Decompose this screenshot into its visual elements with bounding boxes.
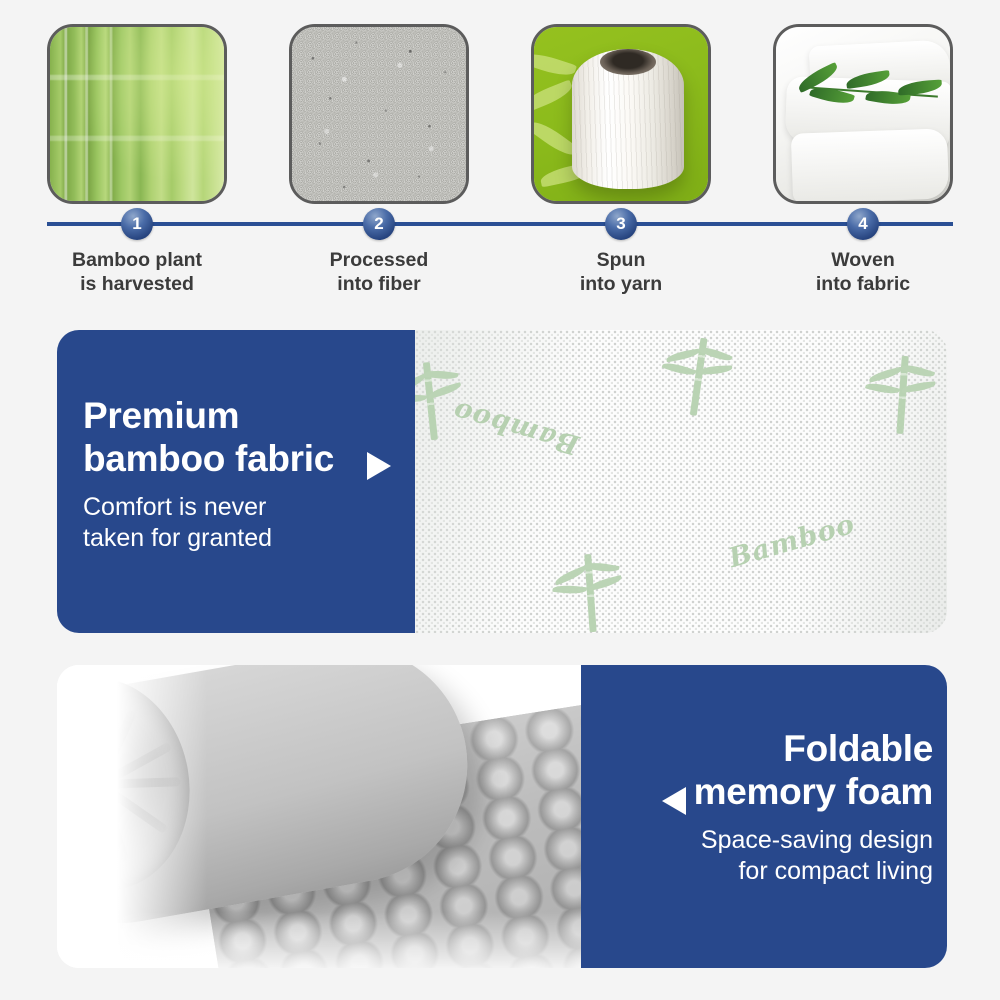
step-number-badge: 4 bbox=[847, 208, 879, 240]
stalk-leaf bbox=[415, 393, 427, 403]
step-caption-line-2: into yarn bbox=[531, 272, 711, 296]
step-caption-line-1: Spun bbox=[531, 248, 711, 272]
feature-foam-title-line-1: Foldable bbox=[597, 727, 933, 770]
process-timeline-line bbox=[47, 222, 953, 226]
bamboo-stalk-motif bbox=[866, 354, 941, 439]
photo-bottom-fade bbox=[57, 912, 581, 968]
feature-foam-subtitle-line-2: for compact living bbox=[597, 856, 933, 887]
stalk-leaf bbox=[553, 565, 588, 585]
feature-fabric-title-line-2: bamboo fabric bbox=[83, 437, 413, 480]
feature-foam-subtitle: Space-saving design for compact living bbox=[597, 825, 933, 887]
bamboo-stalk-motif bbox=[660, 334, 740, 423]
triangle-left-icon bbox=[662, 787, 686, 815]
step-caption-line-1: Woven bbox=[773, 248, 953, 272]
process-step-labels: 1 Bamboo plant is harvested 2 Processed … bbox=[47, 0, 953, 100]
feature-foam-copy: Foldable memory foam Space-saving design… bbox=[597, 727, 933, 887]
stalk-leaf bbox=[865, 380, 900, 396]
step-caption: Spun into yarn bbox=[531, 248, 711, 296]
step-caption-line-2: is harvested bbox=[47, 272, 227, 296]
step-caption: Processed into fiber bbox=[289, 248, 469, 296]
feature-fabric-subtitle-line-1: Comfort is never bbox=[83, 492, 413, 523]
bamboo-fabric-photo: Bamboo Bamboo bbox=[415, 330, 947, 633]
fabric-fold bbox=[791, 128, 949, 203]
step-caption-line-1: Processed bbox=[289, 248, 469, 272]
bamboo-stalk-motif bbox=[554, 552, 629, 633]
feature-foam-title-line-2: memory foam bbox=[597, 770, 933, 813]
stalk-leaf bbox=[666, 349, 701, 363]
step-caption: Woven into fabric bbox=[773, 248, 953, 296]
step-caption: Bamboo plant is harvested bbox=[47, 248, 227, 296]
step-caption-line-1: Bamboo plant bbox=[47, 248, 227, 272]
step-number-badge: 1 bbox=[121, 208, 153, 240]
feature-fabric-title-line-1: Premium bbox=[83, 394, 413, 437]
step-number-badge: 2 bbox=[363, 208, 395, 240]
feature-fabric-subtitle-line-2: taken for granted bbox=[83, 523, 413, 554]
feature-fabric-copy: Premium bamboo fabric Comfort is never t… bbox=[83, 394, 413, 554]
feature-panel-memory-foam: Foldable memory foam Space-saving design… bbox=[57, 665, 947, 968]
bamboo-process-section: 1 Bamboo plant is harvested 2 Processed … bbox=[0, 0, 1000, 312]
step-number-badge: 3 bbox=[605, 208, 637, 240]
stalk-leaf bbox=[552, 584, 587, 596]
step-caption-line-2: into fabric bbox=[773, 272, 953, 296]
step-caption-line-2: into fiber bbox=[289, 272, 469, 296]
triangle-right-icon bbox=[367, 452, 391, 480]
feature-foam-subtitle-line-1: Space-saving design bbox=[597, 825, 933, 856]
feature-panel-bamboo-fabric: Bamboo Bamboo Premium bamboo fabric Comf… bbox=[57, 330, 947, 633]
memory-foam-photo bbox=[57, 665, 581, 968]
product-infographic: 1 Bamboo plant is harvested 2 Processed … bbox=[0, 0, 1000, 1000]
stalk-leaf bbox=[662, 360, 697, 378]
feature-fabric-subtitle: Comfort is never taken for granted bbox=[83, 492, 413, 554]
feature-fabric-title: Premium bamboo fabric bbox=[83, 394, 413, 480]
stalk-leaf bbox=[588, 575, 623, 591]
feature-foam-title: Foldable memory foam bbox=[597, 727, 933, 813]
stalk-leaf bbox=[868, 367, 903, 383]
